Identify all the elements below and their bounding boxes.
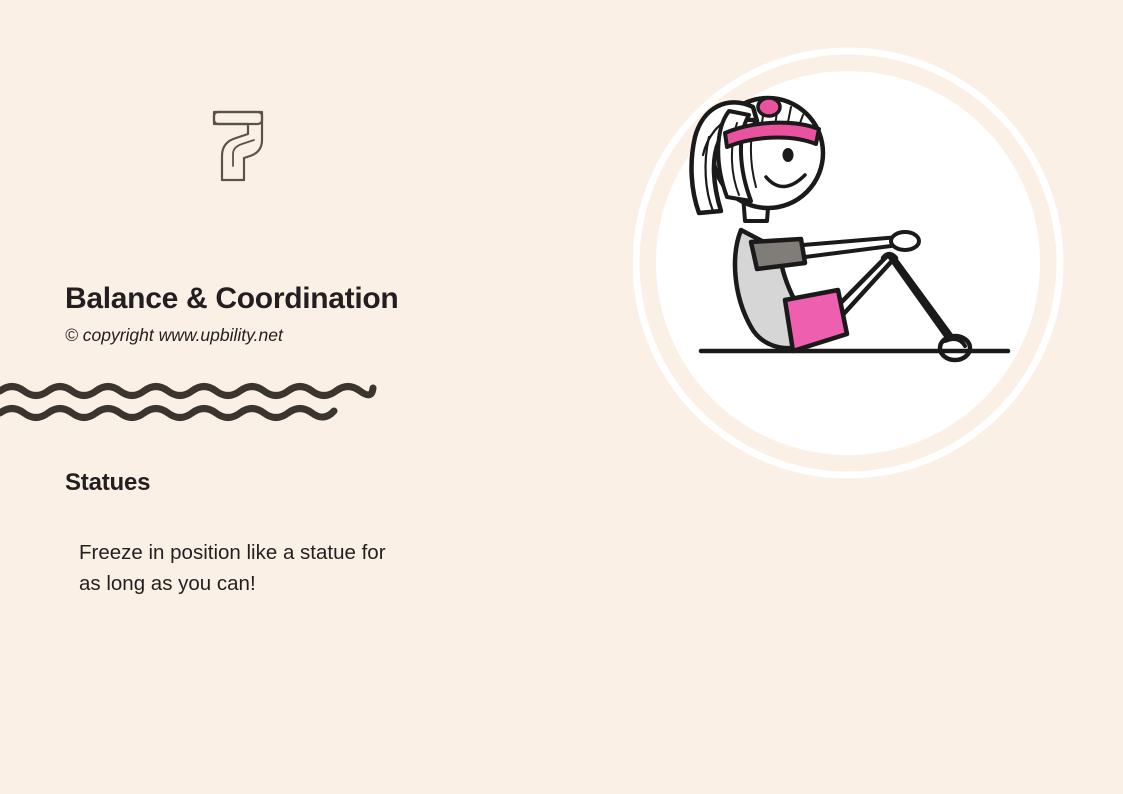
page-title: Balance & Coordination [65, 282, 398, 316]
upbility-logo-icon [208, 106, 268, 186]
worksheet-page: Balance & Coordination © copyright www.u… [0, 0, 1123, 794]
sleeve [751, 239, 805, 269]
wavy-divider [0, 374, 400, 426]
copyright-notice: © copyright www.upbility.net [65, 325, 283, 346]
activity-title: Statues [65, 469, 150, 497]
activity-instruction: Freeze in position like a statue for as … [79, 537, 409, 599]
hair-bobble [758, 98, 780, 116]
girl-boat-pose-illustration [633, 45, 1068, 480]
